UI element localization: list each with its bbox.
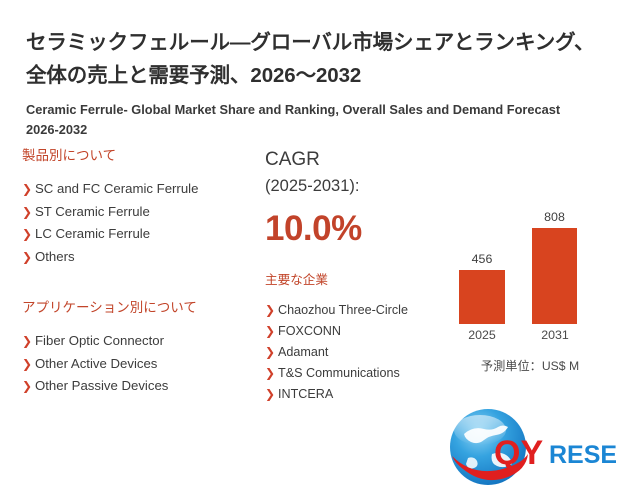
list-item-label: T&S Communications bbox=[278, 366, 400, 380]
logo-text-research: RESEARCH bbox=[549, 441, 616, 469]
list-item[interactable]: ❯ Other Passive Devices bbox=[22, 375, 254, 398]
list-item-label: Other Active Devices bbox=[35, 356, 157, 371]
cagr-column: CAGR (2025-2031): 10.0% 主要な企業 ❯ Chaozhou… bbox=[265, 146, 450, 405]
list-item-label: Chaozhou Three-Circle bbox=[278, 303, 408, 317]
page-subtitle: Ceramic Ferrule- Global Market Share and… bbox=[26, 100, 582, 140]
list-item-label: Adamant bbox=[278, 345, 328, 359]
list-item[interactable]: ❯ ST Ceramic Ferrule bbox=[22, 201, 254, 224]
chevron-right-icon: ❯ bbox=[265, 342, 275, 363]
list-item[interactable]: ❯ FOXCONN bbox=[265, 321, 450, 342]
chevron-right-icon: ❯ bbox=[22, 353, 32, 376]
chevron-right-icon: ❯ bbox=[265, 363, 275, 384]
key-companies-heading: 主要な企業 bbox=[265, 271, 450, 289]
by-application-list: ❯ Fiber Optic Connector ❯ Other Active D… bbox=[22, 330, 254, 398]
list-item[interactable]: ❯ Chaozhou Three-Circle bbox=[265, 300, 450, 321]
list-item-label: FOXCONN bbox=[278, 324, 341, 338]
list-item[interactable]: ❯ Other Active Devices bbox=[22, 353, 254, 376]
chevron-right-icon: ❯ bbox=[22, 223, 32, 246]
bar-value-label: 456 bbox=[472, 252, 493, 266]
bar-plot-area: 456 808 bbox=[440, 204, 620, 324]
page-title: セラミックフェルール—グローバル市場シェアとランキング、全体の売上と需要予測、2… bbox=[26, 26, 600, 92]
list-item[interactable]: ❯ Fiber Optic Connector bbox=[22, 330, 254, 353]
list-item[interactable]: ❯ LC Ceramic Ferrule bbox=[22, 223, 254, 246]
bar-2025[interactable] bbox=[459, 270, 505, 324]
qyresearch-logo: QY RESEARCH bbox=[446, 404, 616, 492]
chevron-right-icon: ❯ bbox=[22, 375, 32, 398]
chevron-right-icon: ❯ bbox=[265, 321, 275, 342]
list-item-label: Fiber Optic Connector bbox=[35, 333, 164, 348]
list-item-label: SC and FC Ceramic Ferrule bbox=[35, 181, 198, 196]
by-product-list: ❯ SC and FC Ceramic Ferrule ❯ ST Ceramic… bbox=[22, 178, 254, 268]
chart-unit-note: 予測単位：US$ M bbox=[440, 356, 620, 374]
forecast-bar-chart: 456 808 2025 2031 予測単位：US$ M bbox=[440, 196, 620, 346]
list-item-label: INTCERA bbox=[278, 387, 333, 401]
chevron-right-icon: ❯ bbox=[22, 201, 32, 224]
cagr-value: 10.0% bbox=[265, 209, 450, 249]
list-item[interactable]: ❯ INTCERA bbox=[265, 384, 450, 405]
list-item-label: LC Ceramic Ferrule bbox=[35, 226, 150, 241]
list-item-label: Others bbox=[35, 249, 75, 264]
cagr-label: CAGR bbox=[265, 146, 450, 173]
x-tick-2025: 2025 bbox=[468, 328, 496, 343]
chevron-right-icon: ❯ bbox=[265, 300, 275, 321]
bar-group-2031: 808 bbox=[532, 204, 577, 324]
chevron-right-icon: ❯ bbox=[22, 178, 32, 201]
bar-2031[interactable] bbox=[532, 228, 577, 324]
list-item[interactable]: ❯ Others bbox=[22, 246, 254, 269]
list-item[interactable]: ❯ Adamant bbox=[265, 342, 450, 363]
by-product-heading: 製品別について bbox=[22, 146, 254, 165]
logo-text-qy: QY bbox=[494, 434, 543, 472]
bar-group-2025: 456 bbox=[459, 204, 505, 324]
segments-column: 製品別について ❯ SC and FC Ceramic Ferrule ❯ ST… bbox=[22, 146, 254, 398]
list-item[interactable]: ❯ T&S Communications bbox=[265, 363, 450, 384]
list-item[interactable]: ❯ SC and FC Ceramic Ferrule bbox=[22, 178, 254, 201]
chevron-right-icon: ❯ bbox=[265, 384, 275, 405]
chevron-right-icon: ❯ bbox=[22, 330, 32, 353]
key-companies-list: ❯ Chaozhou Three-Circle ❯ FOXCONN ❯ Adam… bbox=[265, 300, 450, 405]
cagr-period: (2025-2031): bbox=[265, 173, 450, 199]
bar-value-label: 808 bbox=[544, 210, 565, 224]
list-item-label: Other Passive Devices bbox=[35, 378, 168, 393]
slide-canvas: セラミックフェルール—グローバル市場シェアとランキング、全体の売上と需要予測、2… bbox=[0, 0, 630, 500]
list-item-label: ST Ceramic Ferrule bbox=[35, 204, 150, 219]
x-tick-2031: 2031 bbox=[541, 328, 569, 343]
by-application-heading: アプリケーション別について bbox=[22, 298, 254, 317]
chevron-right-icon: ❯ bbox=[22, 246, 32, 269]
